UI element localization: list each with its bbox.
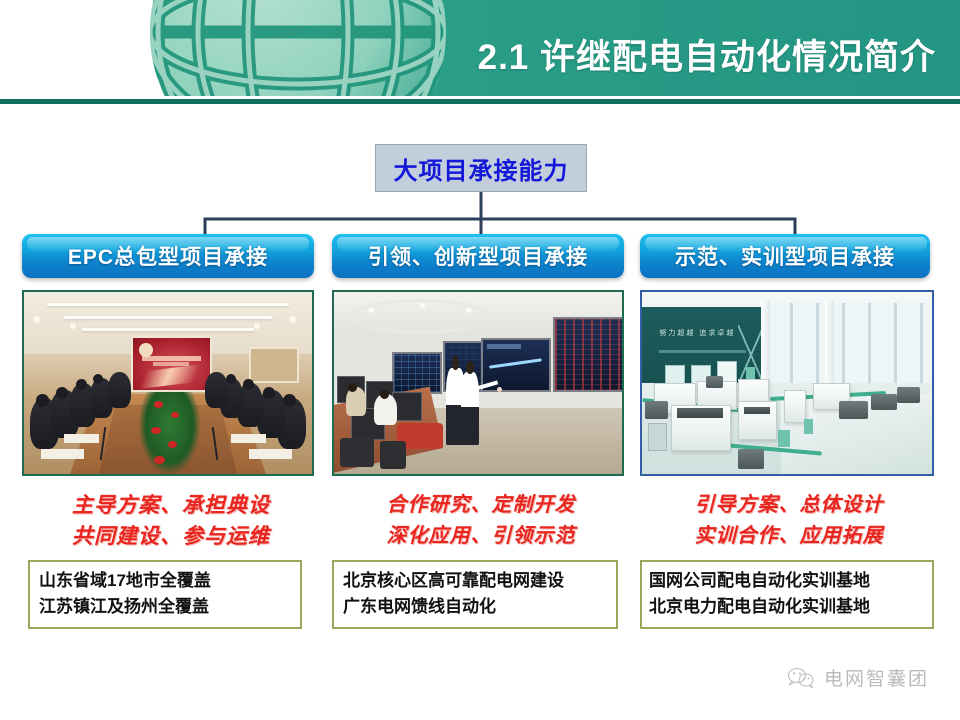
meeting-room-photo (22, 290, 314, 476)
watermark: 电网智囊团 (786, 664, 929, 691)
highlight-line: 合作研究、定制开发 (332, 490, 630, 521)
training-base-photo: 努力超越 追求卓越 (640, 290, 934, 476)
column-training: 示范、实训型项目承接 努力超越 追求卓越 (640, 234, 938, 629)
column-epc: EPC总包型项目承接 (22, 234, 320, 629)
watermark-text: 电网智囊团 (824, 664, 929, 691)
note-box-training: 国网公司配电自动化实训基地 北京电力配电自动化实训基地 (640, 560, 934, 629)
highlights-innovation: 合作研究、定制开发 深化应用、引领示范 (332, 490, 630, 552)
wechat-icon (786, 666, 816, 690)
highlights-training: 引导方案、总体设计 实训合作、应用拓展 (640, 490, 938, 552)
note-line: 国网公司配电自动化实训基地 (649, 568, 927, 594)
highlight-line: 引导方案、总体设计 (640, 490, 938, 521)
category-pill-innovation[interactable]: 引领、创新型项目承接 (332, 234, 624, 278)
training-banner-text: 努力超越 追求卓越 (659, 328, 735, 338)
note-box-innovation: 北京核心区高可靠配电网建设 广东电网馈线自动化 (332, 560, 618, 629)
category-pill-label: 示范、实训型项目承接 (675, 241, 895, 271)
column-innovation: 引领、创新型项目承接 (332, 234, 630, 629)
highlight-line: 主导方案、承担典设 (22, 490, 320, 521)
note-line: 北京电力配电自动化实训基地 (649, 594, 927, 620)
category-pill-label: 引领、创新型项目承接 (368, 241, 588, 271)
highlights-epc: 主导方案、承担典设 共同建设、参与运维 (22, 490, 320, 552)
note-box-epc: 山东省域17地市全覆盖 江苏镇江及扬州全覆盖 (28, 560, 302, 629)
highlight-line: 深化应用、引领示范 (332, 521, 630, 552)
category-pill-label: EPC总包型项目承接 (68, 241, 268, 271)
highlight-line: 实训合作、应用拓展 (640, 521, 938, 552)
control-room-photo (332, 290, 624, 476)
note-line: 江苏镇江及扬州全覆盖 (39, 594, 291, 620)
category-pill-epc[interactable]: EPC总包型项目承接 (22, 234, 314, 278)
note-line: 北京核心区高可靠配电网建设 (343, 568, 607, 594)
note-line: 广东电网馈线自动化 (343, 594, 607, 620)
columns-container: EPC总包型项目承接 (0, 0, 960, 720)
highlight-line: 共同建设、参与运维 (22, 521, 320, 552)
note-line: 山东省域17地市全覆盖 (39, 568, 291, 594)
category-pill-training[interactable]: 示范、实训型项目承接 (640, 234, 930, 278)
